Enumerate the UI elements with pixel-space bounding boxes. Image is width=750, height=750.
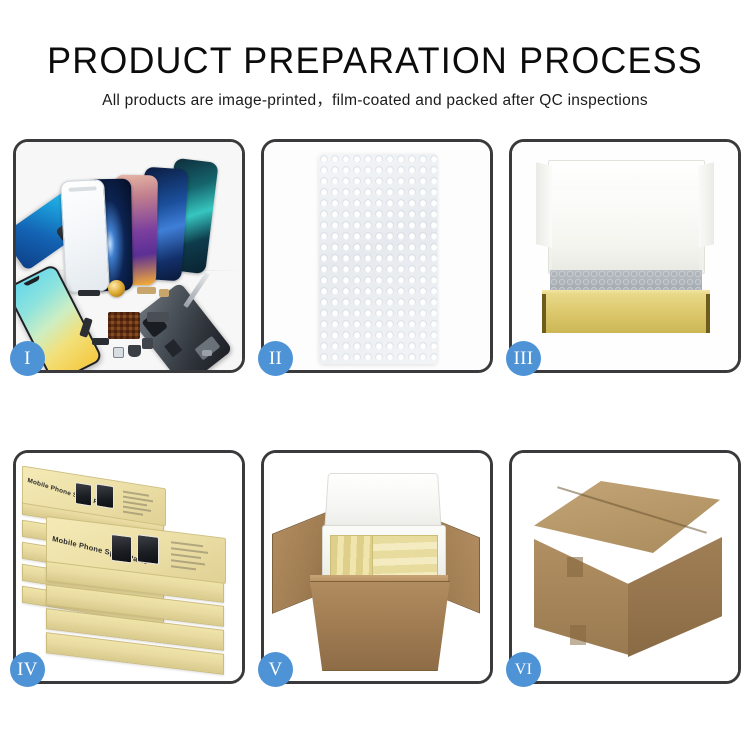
lid-flap-right (698, 162, 714, 247)
step-badge-6: VI (506, 652, 541, 687)
step-badge-2: II (258, 341, 293, 376)
process-panel-5[interactable]: V (261, 450, 493, 684)
phone-glass-panel (60, 179, 110, 293)
panel-1-image (16, 142, 242, 370)
carton-body (304, 581, 456, 671)
yellow-box-front (542, 294, 710, 333)
flex-cable-part (159, 289, 169, 297)
product-photo (75, 482, 92, 507)
step-badge-5: V (258, 652, 293, 687)
process-panel-3[interactable]: III (509, 139, 741, 373)
small-part (142, 338, 153, 349)
spec-text-line (171, 559, 205, 565)
chip-grid-component (108, 312, 140, 339)
product-photo (137, 534, 159, 565)
panel-3-image (512, 142, 738, 370)
process-panel-1[interactable]: I (13, 139, 245, 373)
step-badge-1: I (10, 341, 45, 376)
carton-tape (567, 557, 583, 577)
bubble-wrap-layer (319, 154, 437, 364)
page-header: PRODUCT PREPARATION PROCESS All products… (0, 0, 750, 110)
page-title: PRODUCT PREPARATION PROCESS (11, 0, 739, 82)
page-subtitle: All products are image-printed，film-coat… (0, 82, 750, 110)
process-panel-6[interactable]: VI (509, 450, 741, 684)
process-panel-2[interactable]: II (261, 139, 493, 373)
small-part (113, 347, 124, 358)
spec-text-line (171, 553, 201, 558)
panel-5-image (264, 453, 490, 681)
spec-text-line (171, 541, 203, 546)
step-badge-3: III (506, 341, 541, 376)
small-part (92, 338, 109, 345)
process-panel-4[interactable]: Mobile Phone Spare Parts Mobile Phone S (13, 450, 245, 684)
flex-cable-part (137, 287, 156, 294)
box-label-text: Mobile Phone Spare Parts (52, 534, 148, 566)
spec-text-line (171, 547, 208, 553)
panel-2-image (264, 142, 490, 370)
box-stack: Mobile Phone Spare Parts Mobile Phone S (22, 475, 240, 670)
process-panel-grid: I II III (13, 139, 741, 684)
spec-text-line (123, 501, 147, 506)
panel-6-image (512, 453, 738, 681)
foam-sheet (552, 190, 699, 272)
panel-4-image: Mobile Phone Spare Parts Mobile Phone S (16, 453, 242, 681)
screw-part (202, 350, 212, 356)
lid-flap-left (536, 162, 552, 247)
small-part (128, 345, 141, 357)
small-part (147, 312, 169, 322)
step-badge-4: IV (10, 652, 45, 687)
product-photo (96, 483, 114, 509)
gold-component (108, 280, 125, 297)
small-part (78, 290, 100, 296)
product-photo (111, 534, 132, 564)
carton-tape (570, 625, 586, 645)
spec-text-line (171, 565, 196, 570)
spec-text-line (123, 511, 143, 516)
